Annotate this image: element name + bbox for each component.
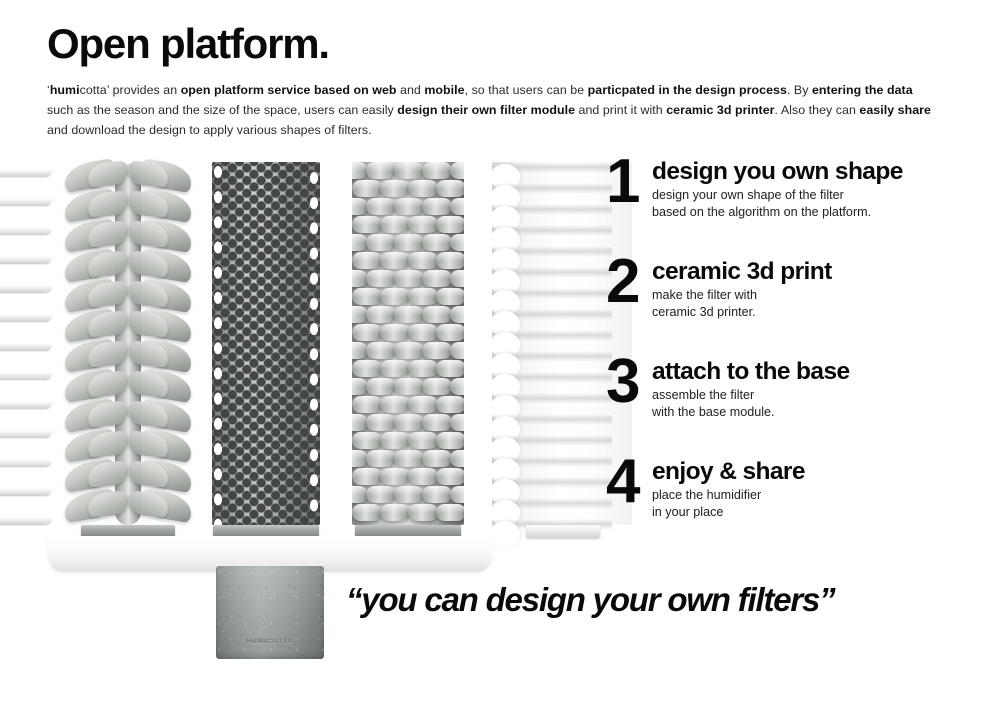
step-heading-2: ceramic 3d print (652, 258, 986, 285)
poster-page: Open platform. ‘humicotta’ provides an o… (0, 0, 1000, 707)
bump-node (366, 378, 396, 395)
leaf-row (62, 312, 194, 342)
fin-blade (0, 222, 52, 235)
honeycomb-cylinder-filter (212, 158, 320, 538)
step-heading-1: design you own shape (652, 158, 986, 185)
bump-node (394, 450, 424, 467)
step-item-2: 2ceramic 3d printmake the filter withcer… (606, 258, 986, 344)
honeycomb-edge-right (307, 162, 320, 525)
bump-node (408, 432, 438, 449)
bump-row (352, 432, 464, 451)
step-description-line-3-1: assemble the filter (652, 387, 986, 404)
bump-node (422, 486, 452, 503)
fin-blade (0, 338, 52, 351)
bump-node (394, 270, 424, 287)
white-fin-comb-filter (0, 158, 58, 538)
intro-paragraph: ‘humicotta’ provides an open platform se… (47, 80, 937, 140)
step-heading-4: enjoy & share (652, 458, 986, 485)
fin-blade (0, 483, 52, 496)
bump-row (352, 450, 464, 469)
leaf-row (62, 222, 194, 252)
paragraph-segment-4: and (397, 83, 425, 97)
step-description-line-4-1: place the humidifier (652, 487, 986, 504)
paragraph-segment-5: mobile (424, 83, 464, 97)
leaf-row (62, 162, 194, 192)
leaf-row (62, 282, 194, 312)
bump-node (436, 432, 464, 449)
bump-node (436, 396, 464, 413)
bump-row (352, 162, 464, 181)
bump-row (352, 198, 464, 217)
bump-row (352, 414, 464, 433)
bump-node (394, 378, 424, 395)
step-body-3: attach to the baseassemble the filterwit… (652, 358, 986, 421)
bump-row (352, 324, 464, 343)
leaf-row (62, 462, 194, 492)
bump-node (408, 180, 438, 197)
step-description-3: assemble the filterwith the base module. (652, 387, 986, 420)
bump-node (408, 216, 438, 233)
bump-node (366, 270, 396, 287)
bump-node (366, 162, 396, 179)
ridge-scallop (490, 521, 520, 547)
leaf-row (62, 492, 194, 522)
bump-node (422, 414, 452, 431)
bump-node (366, 486, 396, 503)
bump-node (450, 450, 464, 467)
bump-node (450, 306, 464, 323)
bump-node (436, 360, 464, 377)
bump-node (422, 270, 452, 287)
step-item-4: 4enjoy & shareplace the humidifierin you… (606, 458, 986, 544)
bump-node (450, 162, 464, 179)
paragraph-segment-9: entering the data (812, 83, 913, 97)
step-item-3: 3attach to the baseassemble the filterwi… (606, 358, 986, 444)
bump-node (380, 396, 410, 413)
bump-node (450, 342, 464, 359)
bump-node (422, 198, 452, 215)
base-module-label: HUMICOTTA (216, 638, 324, 645)
step-description-4: place the humidifierin your place (652, 487, 986, 520)
step-number-4: 4 (606, 454, 650, 510)
bump-row (352, 288, 464, 307)
bump-row (352, 180, 464, 199)
bump-node (352, 216, 382, 233)
leaf-tower-filter (62, 158, 194, 538)
bump-node (450, 234, 464, 251)
step-number-2: 2 (606, 254, 650, 310)
bump-node (450, 378, 464, 395)
step-description-2: make the filter withceramic 3d printer. (652, 287, 986, 320)
paragraph-segment-11: design their own filter module (397, 103, 575, 117)
fin-blade (0, 164, 52, 177)
paragraph-segment-7: particpated in the design process (588, 83, 787, 97)
bump-node (408, 252, 438, 269)
honeycomb-body (212, 162, 320, 525)
step-heading-3: attach to the base (652, 358, 986, 385)
bump-node (380, 432, 410, 449)
bump-node (408, 468, 438, 485)
step-description-line-2-1: make the filter with (652, 287, 986, 304)
bump-node (436, 252, 464, 269)
fin-blade (0, 425, 52, 438)
bump-row (352, 486, 464, 505)
leaf-row (62, 252, 194, 282)
bump-row (352, 342, 464, 361)
paragraph-segment-14: . Also they can (775, 103, 860, 117)
bump-row (352, 216, 464, 235)
bump-node (380, 468, 410, 485)
bump-node (450, 270, 464, 287)
header: Open platform. ‘humicotta’ provides an o… (47, 22, 957, 140)
nodular-cylinder-filter (352, 158, 464, 538)
bump-row (352, 306, 464, 325)
bump-node (394, 162, 424, 179)
fin-blade (0, 512, 52, 525)
bump-node (422, 342, 452, 359)
bump-node (408, 396, 438, 413)
bump-node (408, 324, 438, 341)
bump-node (436, 504, 464, 521)
paragraph-segment-12: and print it with (575, 103, 666, 117)
bump-node (394, 486, 424, 503)
paragraph-segment-6: , so that users can be (465, 83, 588, 97)
step-body-2: ceramic 3d printmake the filter withcera… (652, 258, 986, 321)
step-number-3: 3 (606, 354, 650, 410)
bump-node (422, 162, 452, 179)
bump-node (422, 450, 452, 467)
paragraph-segment-8: . By (787, 83, 812, 97)
bump-node (394, 342, 424, 359)
bump-node (394, 414, 424, 431)
bump-node (394, 198, 424, 215)
bump-node (352, 432, 382, 449)
paragraph-segment-1: humi (50, 83, 80, 97)
bump-node (436, 288, 464, 305)
bump-node (436, 468, 464, 485)
bump-node (436, 324, 464, 341)
bump-node (450, 198, 464, 215)
step-description-line-1-1: design your own shape of the filter (652, 187, 986, 204)
bump-node (380, 360, 410, 377)
bump-node (366, 414, 396, 431)
bump-node (352, 252, 382, 269)
nodular-body (352, 162, 464, 525)
bump-node (352, 468, 382, 485)
bump-node (380, 504, 410, 521)
paragraph-segment-2: cotta’ provides an (80, 83, 181, 97)
bump-node (352, 180, 382, 197)
bump-node (394, 234, 424, 251)
paragraph-segment-15: easily share (859, 103, 931, 117)
bump-row (352, 378, 464, 397)
bump-node (366, 342, 396, 359)
bump-node (408, 288, 438, 305)
bump-node (380, 216, 410, 233)
fin-blade (0, 454, 52, 467)
bump-node (380, 180, 410, 197)
tagline-quote: “you can design your own filters” (346, 581, 834, 619)
step-body-1: design you own shapedesign your own shap… (652, 158, 986, 221)
fin-blade (0, 367, 52, 380)
bump-row (352, 504, 464, 523)
bump-node (408, 504, 438, 521)
bump-node (380, 288, 410, 305)
leaf-row (62, 342, 194, 372)
bump-node (422, 306, 452, 323)
bump-node (366, 450, 396, 467)
bump-node (366, 306, 396, 323)
bump-node (394, 306, 424, 323)
leaf-row (62, 402, 194, 432)
paragraph-segment-16: and download the design to apply various… (47, 123, 372, 137)
paragraph-segment-13: ceramic 3d printer (666, 103, 774, 117)
bump-node (380, 324, 410, 341)
leaf-row (62, 372, 194, 402)
bump-node (366, 198, 396, 215)
step-description-line-1-2: based on the algorithm on the platform. (652, 204, 986, 221)
bump-node (352, 504, 382, 521)
concrete-texture (216, 566, 324, 659)
bump-row (352, 252, 464, 271)
step-body-4: enjoy & shareplace the humidifierin your… (652, 458, 986, 521)
bump-node (408, 360, 438, 377)
step-description-line-4-2: in your place (652, 504, 986, 521)
bump-node (380, 252, 410, 269)
bump-row (352, 396, 464, 415)
leaf-row (62, 192, 194, 222)
steps-list: 1design you own shapedesign your own sha… (606, 158, 986, 558)
bump-node (450, 486, 464, 503)
fin-blade (0, 193, 52, 206)
step-number-1: 1 (606, 154, 650, 210)
bump-row (352, 360, 464, 379)
bump-node (366, 234, 396, 251)
bump-node (450, 414, 464, 431)
step-item-1: 1design you own shapedesign your own sha… (606, 158, 986, 244)
bump-node (436, 180, 464, 197)
bump-node (352, 288, 382, 305)
fin-blade (0, 309, 52, 322)
step-description-line-2-2: ceramic 3d printer. (652, 304, 986, 321)
paragraph-segment-3: open platform service based on web (181, 83, 397, 97)
bump-node (352, 396, 382, 413)
honeycomb-edge-left (212, 162, 225, 525)
bump-node (436, 216, 464, 233)
leaf-row (62, 432, 194, 462)
bump-row (352, 234, 464, 253)
fin-blade (0, 280, 52, 293)
bump-row (352, 270, 464, 289)
paragraph-segment-10: such as the season and the size of the s… (47, 103, 397, 117)
bump-node (422, 234, 452, 251)
bump-node (422, 378, 452, 395)
bump-row (352, 468, 464, 487)
humicotta-base-module: HUMICOTTA (216, 566, 324, 659)
step-description-line-3-2: with the base module. (652, 404, 986, 421)
bump-node (352, 360, 382, 377)
bump-node (352, 324, 382, 341)
step-description-1: design your own shape of the filterbased… (652, 187, 986, 220)
honeycomb-holes-offset (212, 162, 320, 525)
column-foot (526, 525, 600, 538)
page-title: Open platform. (47, 22, 957, 66)
helical-ridge-filter (492, 158, 612, 538)
fin-blade (0, 251, 52, 264)
fin-blade (0, 396, 52, 409)
